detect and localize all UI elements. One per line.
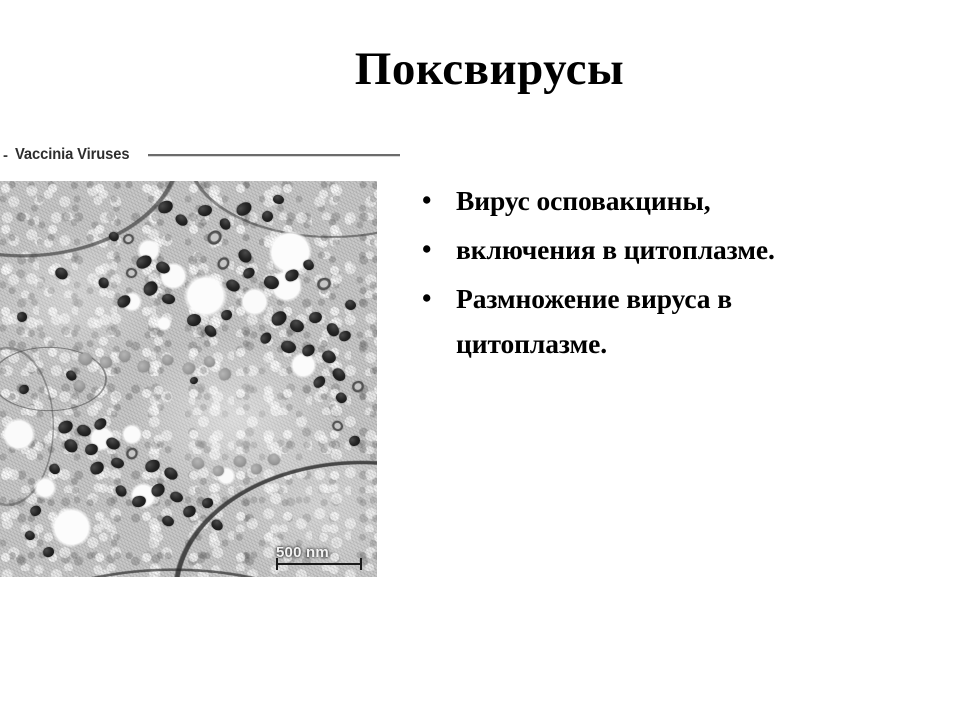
bullet-point-icon: • xyxy=(418,178,456,223)
list-item-label: включения в цитоплазме. xyxy=(456,227,838,272)
slide-canvas: Поксвирусы - Vaccinia Viruses xyxy=(0,0,979,723)
list-item: • Вирус осповакцины, xyxy=(418,178,838,223)
scale-bar-label: 500 nm xyxy=(276,545,368,561)
figure-caption-label: Vaccinia Viruses xyxy=(15,146,129,164)
figure-block: - Vaccinia Viruses xyxy=(0,140,404,580)
electron-micrograph-image: 500 nm xyxy=(0,181,377,577)
list-item-label: Вирус осповакцины, xyxy=(456,178,838,223)
list-item: • включения в цитоплазме. xyxy=(418,227,838,272)
figure-caption: - Vaccinia Viruses xyxy=(0,140,404,170)
bullet-point-icon: • xyxy=(418,227,456,272)
scale-bar: 500 nm xyxy=(276,545,368,565)
page-title: Поксвирусы xyxy=(0,44,979,96)
scale-bar-line xyxy=(276,563,362,565)
bullet-point-icon: • xyxy=(418,276,456,321)
list-item-label: Размножение вируса в цитоплазме. xyxy=(456,276,838,366)
micrograph-virions xyxy=(0,181,377,577)
dash-icon: - xyxy=(0,148,8,163)
bullet-list: • Вирус осповакцины, • включения в цитоп… xyxy=(418,178,838,370)
horizontal-rule xyxy=(148,154,400,156)
list-item: • Размножение вируса в цитоплазме. xyxy=(418,276,838,366)
